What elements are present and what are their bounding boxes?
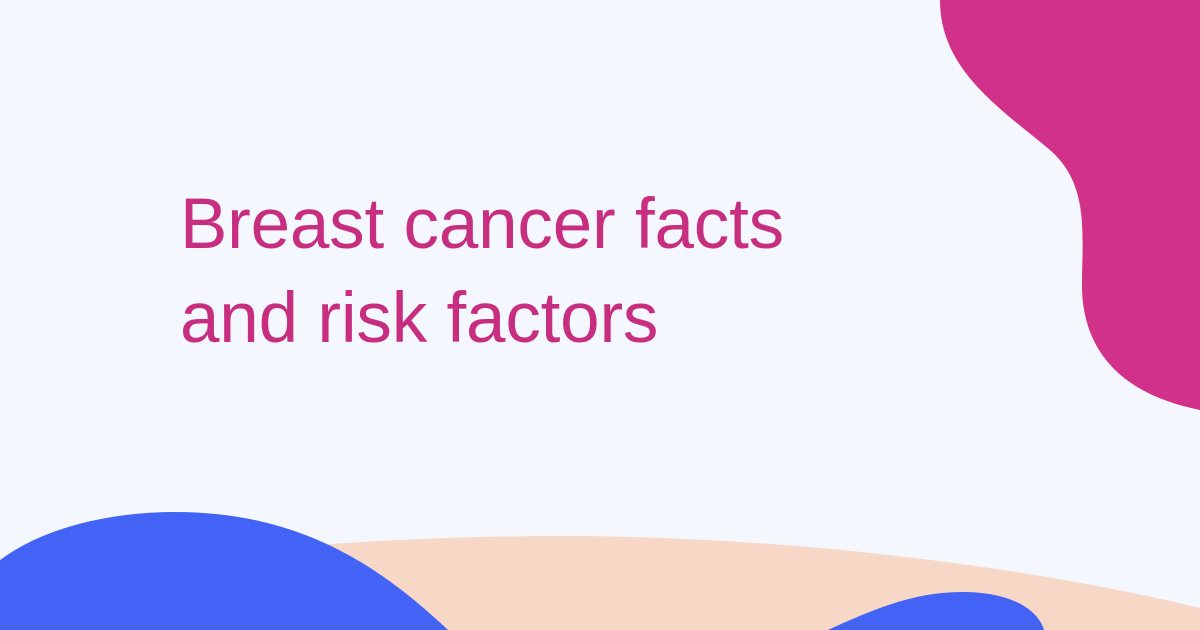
pink-blob-top-right-shape (940, 0, 1200, 410)
page-title: Breast cancer facts and risk factors (180, 178, 940, 366)
title-block: Breast cancer facts and risk factors (180, 178, 940, 366)
blue-blob-bottom-left-shape (0, 512, 448, 630)
banner-card: Breast cancer facts and risk factors (0, 0, 1200, 630)
peach-blob-bottom-shape (0, 536, 1200, 630)
blue-blob-bottom-right-shape (828, 592, 1044, 630)
